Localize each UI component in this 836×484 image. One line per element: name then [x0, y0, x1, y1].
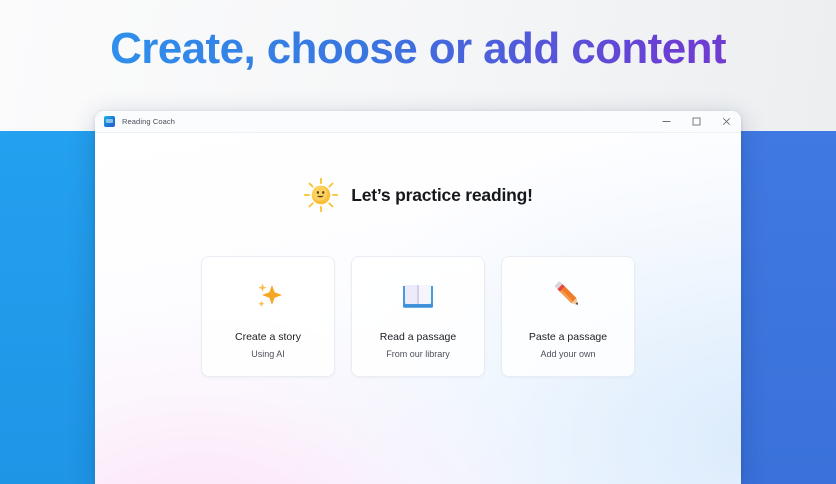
content-choice-cards: Create a story Using AI	[201, 256, 635, 377]
sun-with-face-emoji	[303, 177, 339, 213]
maximize-icon[interactable]	[681, 111, 711, 133]
card-subtitle: From our library	[386, 349, 450, 360]
card-subtitle: Using AI	[251, 349, 285, 360]
sparkles-icon	[246, 273, 290, 317]
window-titlebar[interactable]: Reading Coach	[95, 111, 741, 133]
app-content: Let’s practice reading! Create a story U…	[95, 133, 741, 484]
card-paste-a-passage[interactable]: Paste a passage Add your own	[501, 256, 635, 377]
close-icon[interactable]	[711, 111, 741, 133]
card-subtitle: Add your own	[540, 349, 595, 360]
practice-heading: Let’s practice reading!	[95, 177, 741, 213]
background-right-blue-panel	[740, 131, 836, 484]
card-title: Paste a passage	[529, 331, 607, 344]
practice-heading-text: Let’s practice reading!	[351, 185, 532, 206]
pencil-icon	[546, 273, 590, 317]
page-title: Create, choose or add content	[0, 24, 836, 74]
card-read-a-passage[interactable]: Read a passage From our library	[351, 256, 485, 377]
card-title: Create a story	[235, 331, 301, 344]
app-window: Reading Coach	[95, 111, 741, 484]
window-title: Reading Coach	[122, 117, 175, 126]
reading-coach-app-icon	[104, 116, 115, 127]
open-book-icon	[396, 273, 440, 317]
minimize-icon[interactable]	[651, 111, 681, 133]
card-title: Read a passage	[380, 331, 456, 344]
screenshot-root: Create, choose or add content Reading Co…	[0, 0, 836, 484]
window-controls	[651, 111, 741, 133]
card-create-a-story[interactable]: Create a story Using AI	[201, 256, 335, 377]
